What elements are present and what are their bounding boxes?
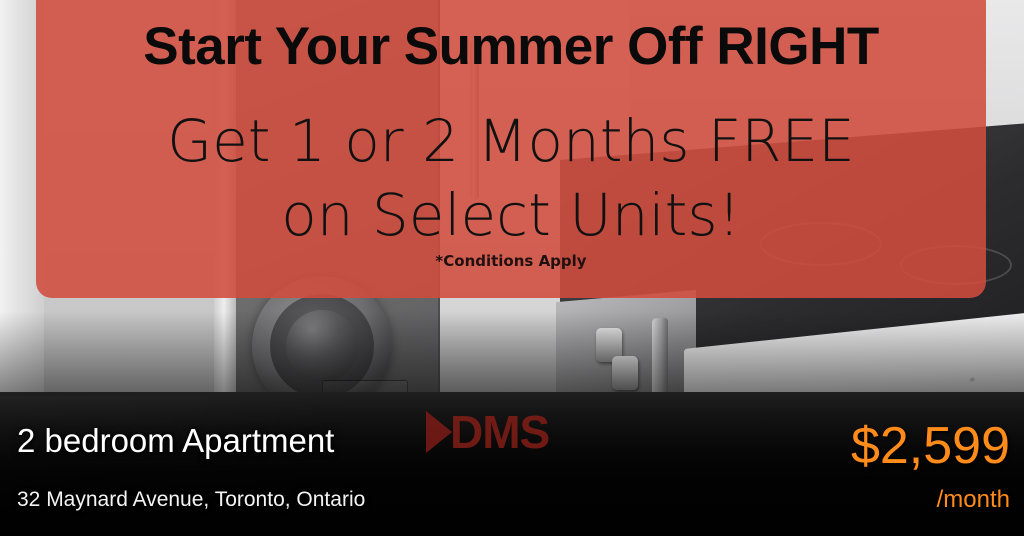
promo-banner: Start Your Summer Off RIGHT Get 1 or 2 M… [36, 0, 986, 298]
listing-title: 2 bedroom Apartment [17, 422, 334, 460]
listing-price-period: /month [937, 488, 1010, 512]
washing-machine-glass [286, 310, 358, 382]
promo-fine-print: *Conditions Apply [58, 252, 964, 270]
oven-knob [612, 356, 638, 390]
promo-subheadline-line-2: on Select Units! [58, 178, 964, 252]
promo-subheadline-line-1: Get 1 or 2 Months FREE [167, 107, 855, 175]
promo-headline: Start Your Summer Off RIGHT [58, 20, 964, 73]
listing-promo-card: DMS Start Your Summer Off RIGHT Get 1 or… [0, 0, 1024, 536]
listing-price: $2,599 [851, 420, 1010, 472]
promo-subheadline: Get 1 or 2 Months FREE on Select Units! [58, 104, 964, 252]
listing-address: 32 Maynard Avenue, Toronto, Ontario [17, 488, 365, 512]
